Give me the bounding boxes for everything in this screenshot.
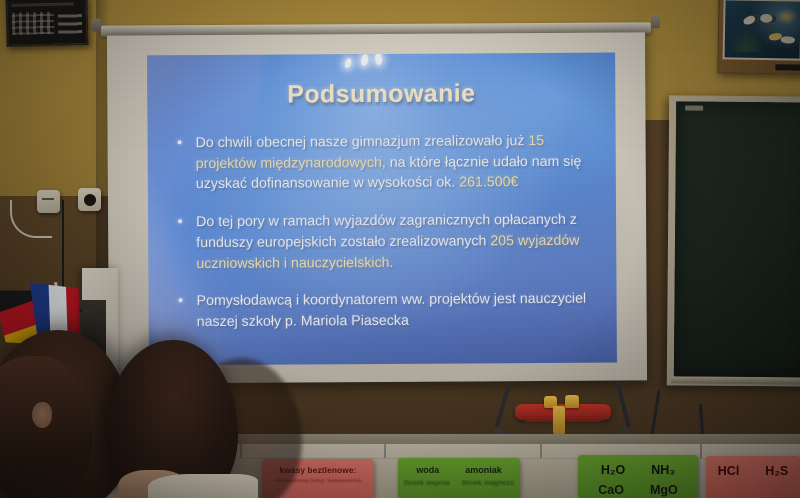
roller-cap-right [651, 15, 660, 28]
roller-cap-left [92, 19, 101, 32]
pull-down-projection-screen: Podsumowanie Do chwili obecnej nasze gim… [107, 28, 647, 383]
fish-icon [759, 12, 776, 23]
slide-title: Podsumowanie [147, 79, 615, 111]
poster-caption-strip [775, 64, 800, 70]
apparatus-post [553, 406, 565, 434]
slide-bullet-1: Do chwili obecnej nasze gimnazjum zreali… [174, 131, 598, 196]
sparkle-icon [360, 54, 369, 67]
apparatus-knob [565, 395, 579, 408]
student-ear [32, 402, 52, 428]
classroom-photo: Podsumowanie Do chwili obecnej nasze gim… [0, 0, 800, 498]
slide-decoration-dots [343, 53, 403, 71]
chalkboard-surface [674, 101, 800, 377]
sign-formula-hcl: HCl [718, 464, 740, 478]
poster-image [725, 0, 800, 58]
sign-label-woda: woda [416, 465, 439, 475]
underwater-fish-poster [717, 0, 800, 75]
student-shoulder [148, 474, 258, 498]
notice-board-header-bar [12, 2, 74, 7]
sparkle-icon [374, 53, 382, 66]
bullet-3-seg-1: Pomysłodawcą i koordynatorem ww. projekt… [197, 291, 587, 330]
sign-formula-h2o: H₂O [601, 463, 625, 477]
slide-bullet-3: Pomysłodawcą i koordynatorem ww. projekt… [175, 289, 599, 333]
sparkle-icon [344, 57, 353, 68]
sign-hcl-h2s: HCl H₂S [706, 456, 800, 498]
sign-label-amoniak: amoniak [465, 465, 502, 475]
bullet-point-icon [178, 219, 182, 223]
fish-icon [768, 33, 782, 41]
slide-bullet-list: Do chwili obecnej nasze gimnazjum zreali… [174, 131, 599, 350]
chalkboard-chalk-tray [671, 376, 800, 384]
bullet-1-seg-1: Do chwili obecnej nasze gimnazjum zreali… [196, 133, 529, 151]
counter-seam [384, 444, 386, 458]
sign-label-tlenek-magnezu: tlenek magnezu [462, 480, 515, 487]
sign-formula-nh3: NH₃ [651, 463, 675, 477]
sign-h2o-nh3: H₂O NH₃ CaO MgO [578, 455, 698, 498]
sign-h2o-row1: H₂O NH₃ [601, 463, 675, 477]
red-lab-apparatus [505, 386, 623, 436]
bullet-point-icon [178, 140, 182, 144]
chalkboard-clip [685, 105, 703, 110]
notice-board-grid [12, 12, 55, 35]
notice-board-text-lines [58, 11, 83, 34]
fish-icon [742, 14, 759, 26]
coral-shape [729, 25, 763, 52]
sign-label-tlenek-wapnia: tlenek wapnia [404, 480, 450, 487]
dark-framed-notice-board [5, 0, 88, 47]
bullet-point-icon [179, 299, 183, 303]
projected-slide: Podsumowanie Do chwili obecnej nasze gim… [147, 53, 617, 366]
sign-hcl-row1: HCl H₂S [718, 464, 788, 478]
poster-mat [723, 0, 800, 61]
sign-woda-row2: tlenek wapnia tlenek magnezu [404, 480, 514, 487]
sign-woda-amoniak: woda amoniak tlenek wapnia tlenek magnez… [398, 458, 520, 498]
sign-formula-h2s: H₂S [765, 464, 788, 478]
bullet-2-seg-3: . [389, 255, 393, 271]
screen-canvas: Podsumowanie Do chwili obecnej nasze gim… [107, 32, 647, 383]
sign-formula-cao: CaO [598, 483, 624, 497]
counter-seam [700, 444, 702, 458]
anemone-shape [775, 8, 797, 24]
sign-formula-mgo: MgO [650, 483, 678, 497]
sign-woda-row1: woda amoniak [416, 465, 502, 475]
sign-h2o-row2: CaO MgO [598, 483, 677, 497]
fish-icon [780, 36, 795, 44]
bullet-1-highlight-amount: 261.500€ [459, 175, 518, 191]
counter-seam [540, 444, 542, 458]
slide-bullet-2: Do tej pory w ramach wyjazdów zagraniczn… [174, 210, 598, 275]
green-chalkboard [667, 95, 800, 386]
